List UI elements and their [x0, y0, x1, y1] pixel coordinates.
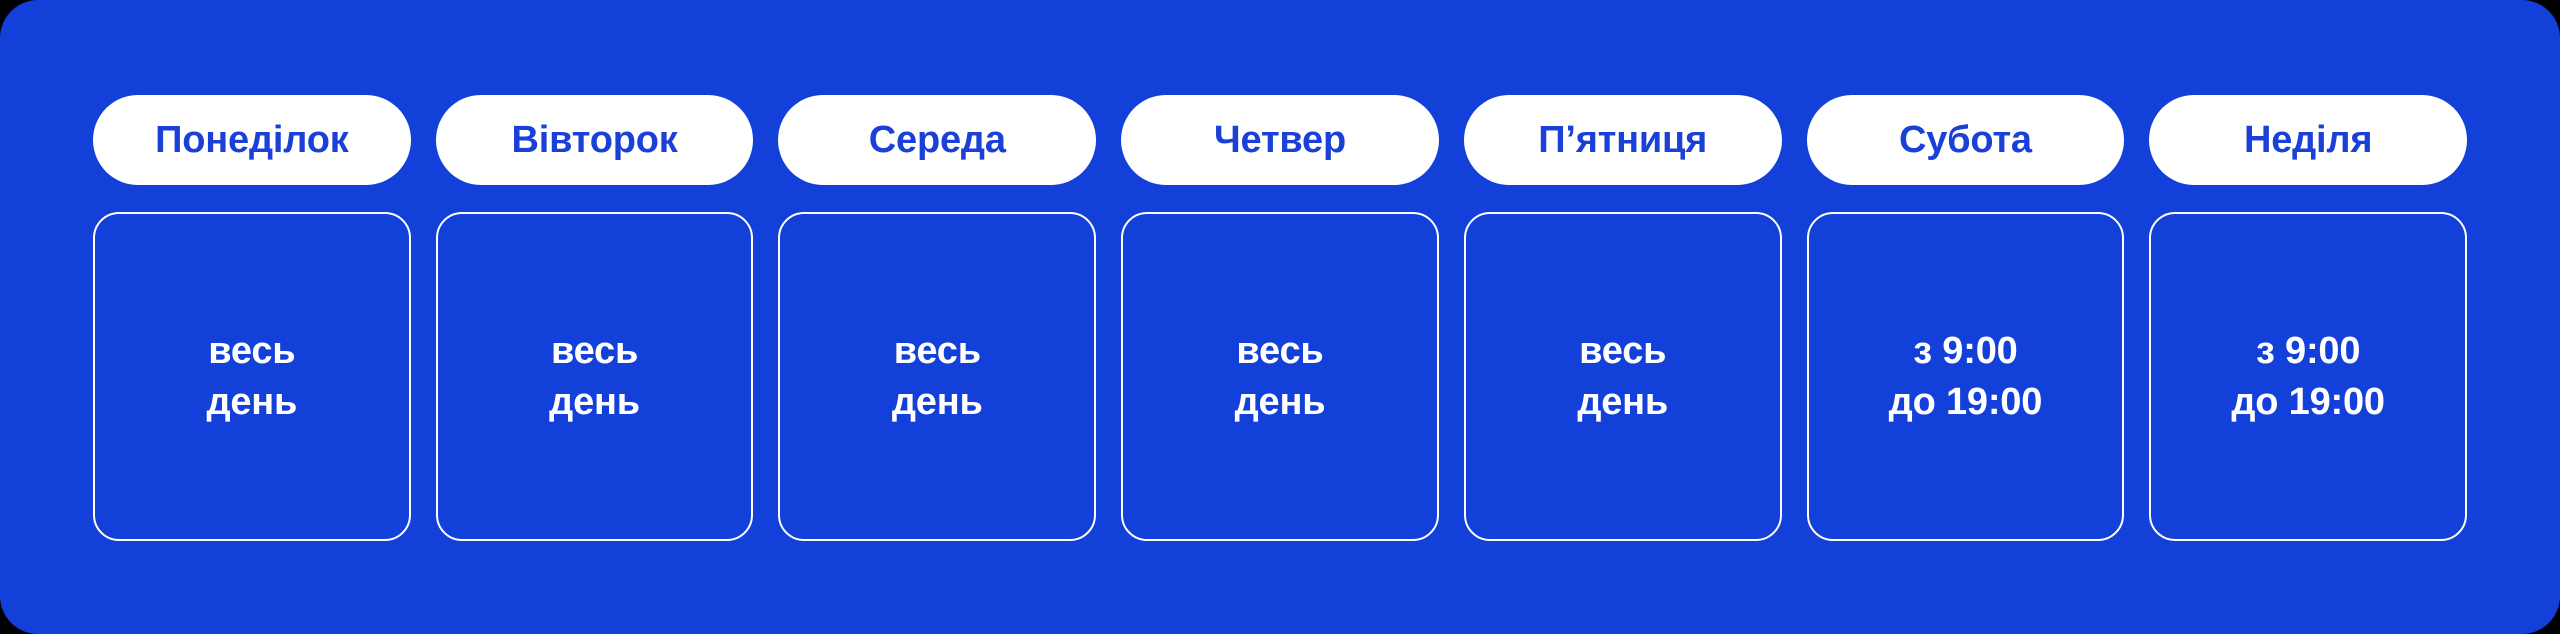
- hours-card-wednesday[interactable]: весь день: [778, 212, 1096, 541]
- hours-line-1-monday: весь: [208, 326, 295, 376]
- day-name-monday: Понеділок: [155, 121, 348, 159]
- hours-line-2-sunday: до 19:00: [2231, 377, 2384, 427]
- day-column-friday: П’ятниця весь день: [1464, 95, 1782, 541]
- hours-line-1-tuesday: весь: [551, 326, 638, 376]
- hours-line-1-saturday: з 9:00: [1913, 326, 2017, 376]
- hours-line-1-thursday: весь: [1236, 326, 1323, 376]
- hours-line-1-sunday: з 9:00: [2256, 326, 2360, 376]
- hours-line-2-tuesday: день: [549, 377, 640, 427]
- day-pill-friday[interactable]: П’ятниця: [1464, 95, 1782, 185]
- hours-card-tuesday[interactable]: весь день: [436, 212, 754, 541]
- day-name-sunday: Неділя: [2244, 121, 2372, 159]
- hours-card-friday[interactable]: весь день: [1464, 212, 1782, 541]
- weekly-schedule-panel: Понеділок весь день Вівторок весь день С…: [0, 0, 2560, 634]
- day-column-monday: Понеділок весь день: [93, 95, 411, 541]
- hours-line-2-saturday: до 19:00: [1889, 377, 2042, 427]
- day-column-wednesday: Середа весь день: [778, 95, 1096, 541]
- day-name-thursday: Четвер: [1214, 121, 1346, 159]
- day-pill-sunday[interactable]: Неділя: [2149, 95, 2467, 185]
- hours-line-2-monday: день: [206, 377, 297, 427]
- hours-line-1-wednesday: весь: [894, 326, 981, 376]
- day-column-tuesday: Вівторок весь день: [436, 95, 754, 541]
- day-column-sunday: Неділя з 9:00 до 19:00: [2149, 95, 2467, 541]
- day-column-saturday: Субота з 9:00 до 19:00: [1807, 95, 2125, 541]
- day-name-friday: П’ятниця: [1538, 121, 1707, 159]
- day-name-saturday: Субота: [1899, 121, 2032, 159]
- day-pill-monday[interactable]: Понеділок: [93, 95, 411, 185]
- day-pill-thursday[interactable]: Четвер: [1121, 95, 1439, 185]
- hours-line-2-wednesday: день: [892, 377, 983, 427]
- hours-card-sunday[interactable]: з 9:00 до 19:00: [2149, 212, 2467, 541]
- hours-line-1-friday: весь: [1579, 326, 1666, 376]
- day-pill-tuesday[interactable]: Вівторок: [436, 95, 754, 185]
- day-pill-wednesday[interactable]: Середа: [778, 95, 1096, 185]
- hours-line-2-thursday: день: [1235, 377, 1326, 427]
- day-name-tuesday: Вівторок: [512, 121, 678, 159]
- week-grid: Понеділок весь день Вівторок весь день С…: [93, 95, 2467, 541]
- day-column-thursday: Четвер весь день: [1121, 95, 1439, 541]
- hours-card-monday[interactable]: весь день: [93, 212, 411, 541]
- hours-card-thursday[interactable]: весь день: [1121, 212, 1439, 541]
- day-pill-saturday[interactable]: Субота: [1807, 95, 2125, 185]
- hours-line-2-friday: день: [1577, 377, 1668, 427]
- hours-card-saturday[interactable]: з 9:00 до 19:00: [1807, 212, 2125, 541]
- day-name-wednesday: Середа: [869, 121, 1006, 159]
